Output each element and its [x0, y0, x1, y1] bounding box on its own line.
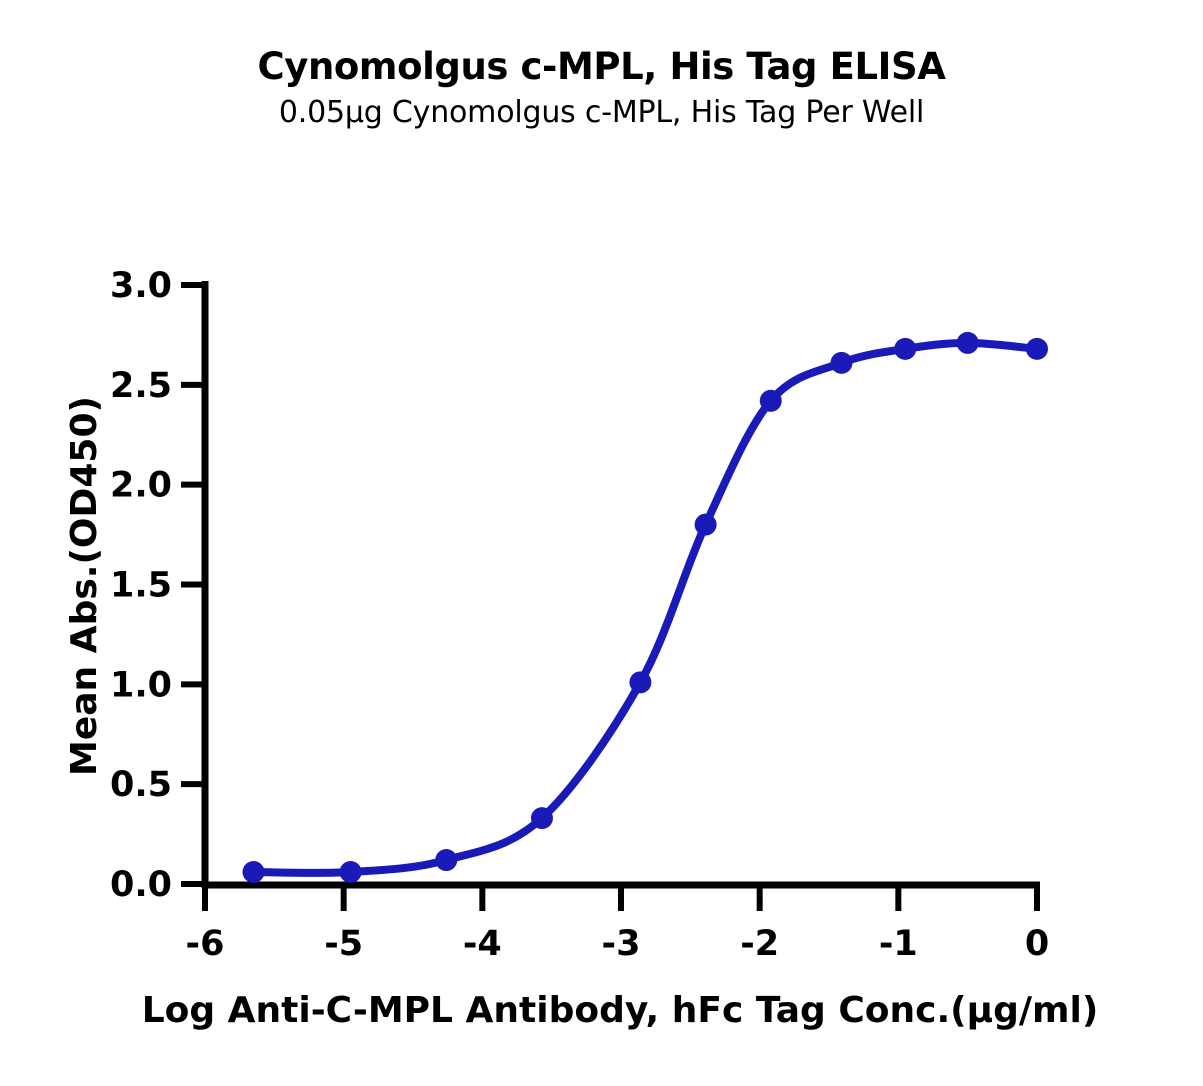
y-axis-label: Mean Abs.(OD450)	[64, 396, 105, 776]
data-point	[894, 338, 916, 360]
x-tick-label: -5	[324, 924, 363, 964]
x-axis-label: Log Anti-C-MPL Antibody, hFc Tag Conc.(μ…	[142, 990, 1099, 1031]
data-point	[340, 861, 362, 883]
x-tick-label: 0	[1025, 924, 1049, 964]
plot-area: 0.00.51.01.52.02.53.0 -6-5-4-3-2-10 Mean…	[0, 0, 1203, 1086]
y-tick-label: 0.5	[110, 765, 172, 805]
y-tick-label: 1.0	[110, 665, 172, 705]
x-tick-label: -4	[463, 924, 502, 964]
data-series-line	[254, 343, 1037, 873]
y-tick-label: 1.5	[110, 566, 172, 606]
data-point	[1026, 338, 1048, 360]
y-tick-label: 2.5	[110, 366, 172, 406]
x-tick-label: -1	[879, 924, 918, 964]
y-axis-ticks: 0.00.51.01.52.02.53.0	[110, 266, 205, 905]
x-tick-label: -6	[186, 924, 225, 964]
data-point	[695, 514, 717, 536]
data-point	[435, 849, 457, 871]
data-point	[243, 861, 265, 883]
data-point	[629, 671, 651, 693]
x-tick-label: -2	[740, 924, 779, 964]
data-point	[760, 390, 782, 412]
data-point	[957, 332, 979, 354]
y-tick-label: 2.0	[110, 466, 172, 506]
y-tick-label: 3.0	[110, 266, 172, 306]
x-axis-ticks: -6-5-4-3-2-10	[186, 885, 1050, 964]
data-series-markers	[243, 332, 1048, 883]
y-tick-label: 0.0	[110, 865, 172, 905]
data-point	[531, 807, 553, 829]
x-tick-label: -3	[602, 924, 641, 964]
chart-figure: Cynomolgus c-MPL, His Tag ELISA 0.05μg C…	[0, 0, 1203, 1086]
data-point	[830, 352, 852, 374]
